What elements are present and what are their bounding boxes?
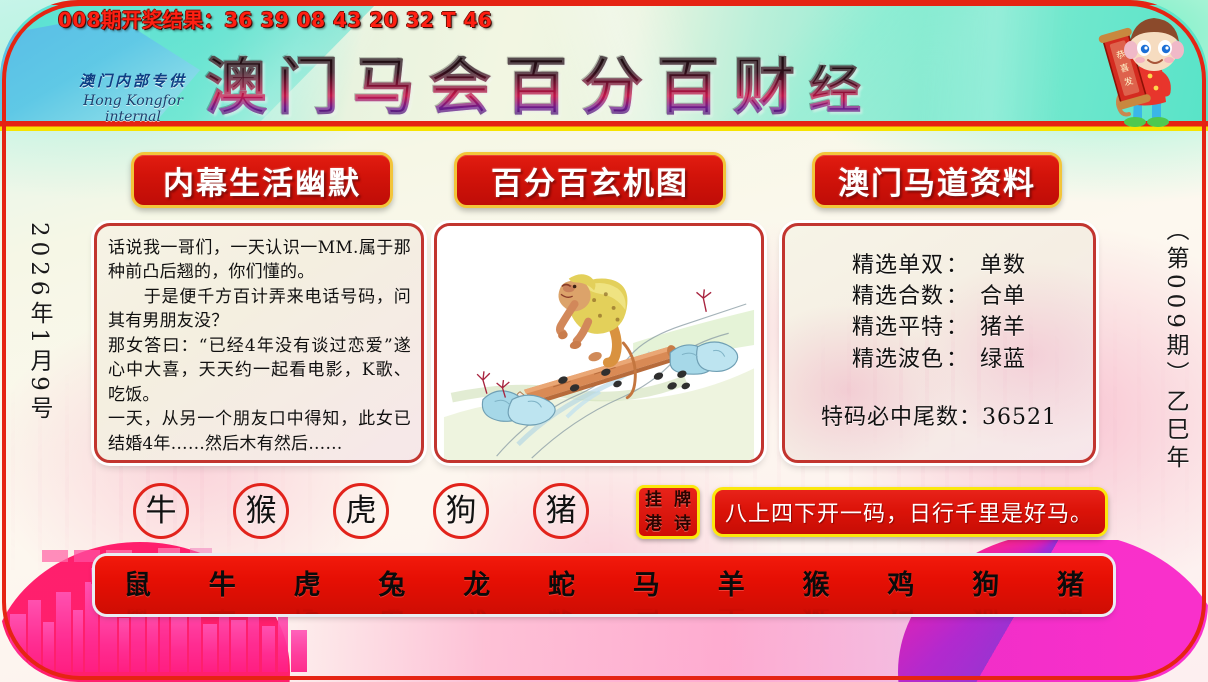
zodiac-cell[interactable]: 猪猪 (1028, 572, 1113, 599)
mystery-picture (437, 226, 761, 460)
issue-date-vertical: 2026年1月9号 (22, 222, 56, 424)
stat-row: 精选单双 ： 单数 (799, 250, 1079, 281)
draw-result-line: 008期开奖结果：36 39 08 43 20 32 T 46 (58, 4, 492, 33)
title-char-0: 澳 (205, 56, 267, 118)
stat-row: 精选合数 ： 合单 (799, 281, 1079, 312)
monkey-mascot-icon: 恭 喜 发 (1096, 10, 1192, 128)
joke-text: 话说我一哥们，一天认识一MM.属于那种前凸后翘的，你们懂的。 于是便千方百计弄来… (108, 236, 411, 456)
poster-title: 澳 门 马 会 百 分 百 财 经 (205, 48, 1085, 126)
stat-value: 猪羊 (980, 312, 1026, 343)
zodiac-cell[interactable]: 狗狗 (943, 572, 1028, 599)
zodiac-cell[interactable]: 猴猴 (774, 572, 859, 599)
poem-badge-char: 牌 (674, 492, 691, 509)
mystery-picture-panel (434, 223, 764, 463)
stat-value: 单数 (980, 250, 1026, 281)
section-plate-data-label: 澳门马道资料 (838, 158, 1036, 203)
zodiac-reflection: 羊 (689, 596, 774, 615)
zodiac-pick-label: 猪 (546, 496, 577, 527)
poem-badge-char: 港 (645, 516, 662, 533)
zodiac-cell[interactable]: 羊羊 (689, 572, 774, 599)
zodiac-reflection: 鸡 (858, 596, 943, 615)
zodiac-cell[interactable]: 鼠鼠 (95, 572, 180, 599)
poem-badge-char: 挂 (645, 492, 662, 509)
section-plate-picture-label: 百分百玄机图 (491, 158, 689, 203)
title-char-8: 经 (809, 65, 861, 117)
lottery-poster: 008期开奖结果：36 39 08 43 20 32 T 46 澳门内部专供 H… (0, 0, 1208, 682)
zodiac-cell[interactable]: 鸡鸡 (858, 572, 943, 599)
zodiac-cell[interactable]: 兔兔 (349, 572, 434, 599)
stat-row: 精选平特 ： 猪羊 (799, 312, 1079, 343)
zodiac-reflection: 兔 (349, 596, 434, 615)
poem-badge[interactable]: 挂 牌 港 诗 (636, 485, 700, 539)
stat-separator: ： (946, 281, 968, 312)
zodiac-reflection: 牛 (180, 596, 265, 615)
issue-number-vertical: （第009期）乙巳年 (1158, 218, 1192, 473)
zodiac-reflection: 狗 (943, 596, 1028, 615)
stat-key: 精选平特 (852, 312, 944, 343)
joke-line-2: 于是便千方百计弄来电话号码，问其有男朋友没？ (108, 285, 411, 334)
joke-line-3: 那女答曰：“已经4年没有谈过恋爱”遂心中大喜，天天约一起看电影，K歌、吃饭。 (108, 334, 411, 407)
section-plate-joke-label: 内幕生活幽默 (163, 158, 361, 203)
title-char-6: 百 (657, 56, 719, 118)
stat-separator: ： (946, 344, 968, 375)
stat-separator: ： (946, 312, 968, 343)
section-plate-joke[interactable]: 内幕生活幽默 (131, 152, 393, 208)
joke-line-4: 一天，从另一个朋友口中得知，此女已结婚4年……然后木有然后…… (108, 407, 411, 456)
zodiac-reflection: 鼠 (95, 596, 180, 615)
title-char-3: 会 (429, 56, 491, 118)
stat-row: 精选波色 ： 绿蓝 (799, 344, 1079, 375)
zodiac-pick[interactable]: 狗 (433, 483, 489, 539)
logo-chinese-text: 澳门内部专供 (58, 70, 208, 91)
zodiac-pick-label: 狗 (446, 496, 477, 527)
data-panel: 精选单双 ： 单数 精选合数 ： 合单 精选平特 ： 猪羊 精选波色 ： 绿蓝 … (782, 223, 1096, 463)
stat-key: 精选合数 (852, 281, 944, 312)
zodiac-reflection: 蛇 (519, 596, 604, 615)
joke-line-1: 话说我一哥们，一天认识一MM.属于那种前凸后翘的，你们懂的。 (108, 236, 411, 285)
section-plate-data[interactable]: 澳门马道资料 (812, 152, 1062, 208)
stat-separator: ： (946, 250, 968, 281)
site-logo: 澳门内部专供 Hong Kongfor internal (58, 70, 208, 125)
special-tail-label: 特码必中尾数： (821, 405, 982, 430)
joke-panel: 话说我一哥们，一天认识一MM.属于那种前凸后翘的，你们懂的。 于是便千方百计弄来… (94, 223, 424, 463)
zodiac-picks-row: 牛 猴 虎 狗 猪 (133, 483, 633, 539)
zodiac-pick[interactable]: 猪 (533, 483, 589, 539)
stat-value: 绿蓝 (980, 344, 1026, 375)
zodiac-reflection: 龙 (434, 596, 519, 615)
monkey-log-stream-illustration (437, 226, 761, 460)
zodiac-pick-label: 猴 (246, 496, 277, 527)
zodiac-cell[interactable]: 马马 (604, 572, 689, 599)
title-char-1: 门 (277, 56, 339, 118)
poem-badge-char: 诗 (674, 516, 691, 533)
stat-key: 精选单双 (852, 250, 944, 281)
title-char-4: 百 (505, 56, 567, 118)
logo-english-text: Hong Kongfor internal (58, 93, 208, 125)
zodiac-strip: 鼠鼠 牛牛 虎虎 兔兔 龙龙 蛇蛇 马马 羊羊 猴猴 鸡鸡 狗狗 猪猪 (95, 556, 1113, 614)
special-tail-row: 特码必中尾数：36521 (799, 399, 1079, 431)
zodiac-cell[interactable]: 蛇蛇 (519, 572, 604, 599)
title-char-2: 马 (353, 56, 415, 118)
zodiac-reflection: 猴 (774, 596, 859, 615)
poem-text: 八上四下开一码，日行千里是好马。 (725, 496, 1093, 528)
zodiac-reflection: 猪 (1028, 596, 1113, 615)
zodiac-cell[interactable]: 虎虎 (265, 572, 350, 599)
title-char-7: 财 (733, 56, 795, 118)
zodiac-cell[interactable]: 牛牛 (180, 572, 265, 599)
title-char-5: 分 (581, 56, 643, 118)
zodiac-pick-label: 牛 (146, 496, 177, 527)
poem-bar[interactable]: 八上四下开一码，日行千里是好马。 (712, 487, 1108, 537)
stat-value: 合单 (980, 281, 1026, 312)
zodiac-reflection: 虎 (265, 596, 350, 615)
zodiac-pick[interactable]: 牛 (133, 483, 189, 539)
zodiac-pick-label: 虎 (346, 496, 377, 527)
special-tail-value: 36521 (982, 405, 1057, 430)
section-plate-picture[interactable]: 百分百玄机图 (454, 152, 726, 208)
stats-list: 精选单双 ： 单数 精选合数 ： 合单 精选平特 ： 猪羊 精选波色 ： 绿蓝 … (785, 226, 1093, 431)
zodiac-pick[interactable]: 虎 (333, 483, 389, 539)
zodiac-pick[interactable]: 猴 (233, 483, 289, 539)
zodiac-cell[interactable]: 龙龙 (434, 572, 519, 599)
zodiac-reflection: 马 (604, 596, 689, 615)
stat-key: 精选波色 (852, 344, 944, 375)
